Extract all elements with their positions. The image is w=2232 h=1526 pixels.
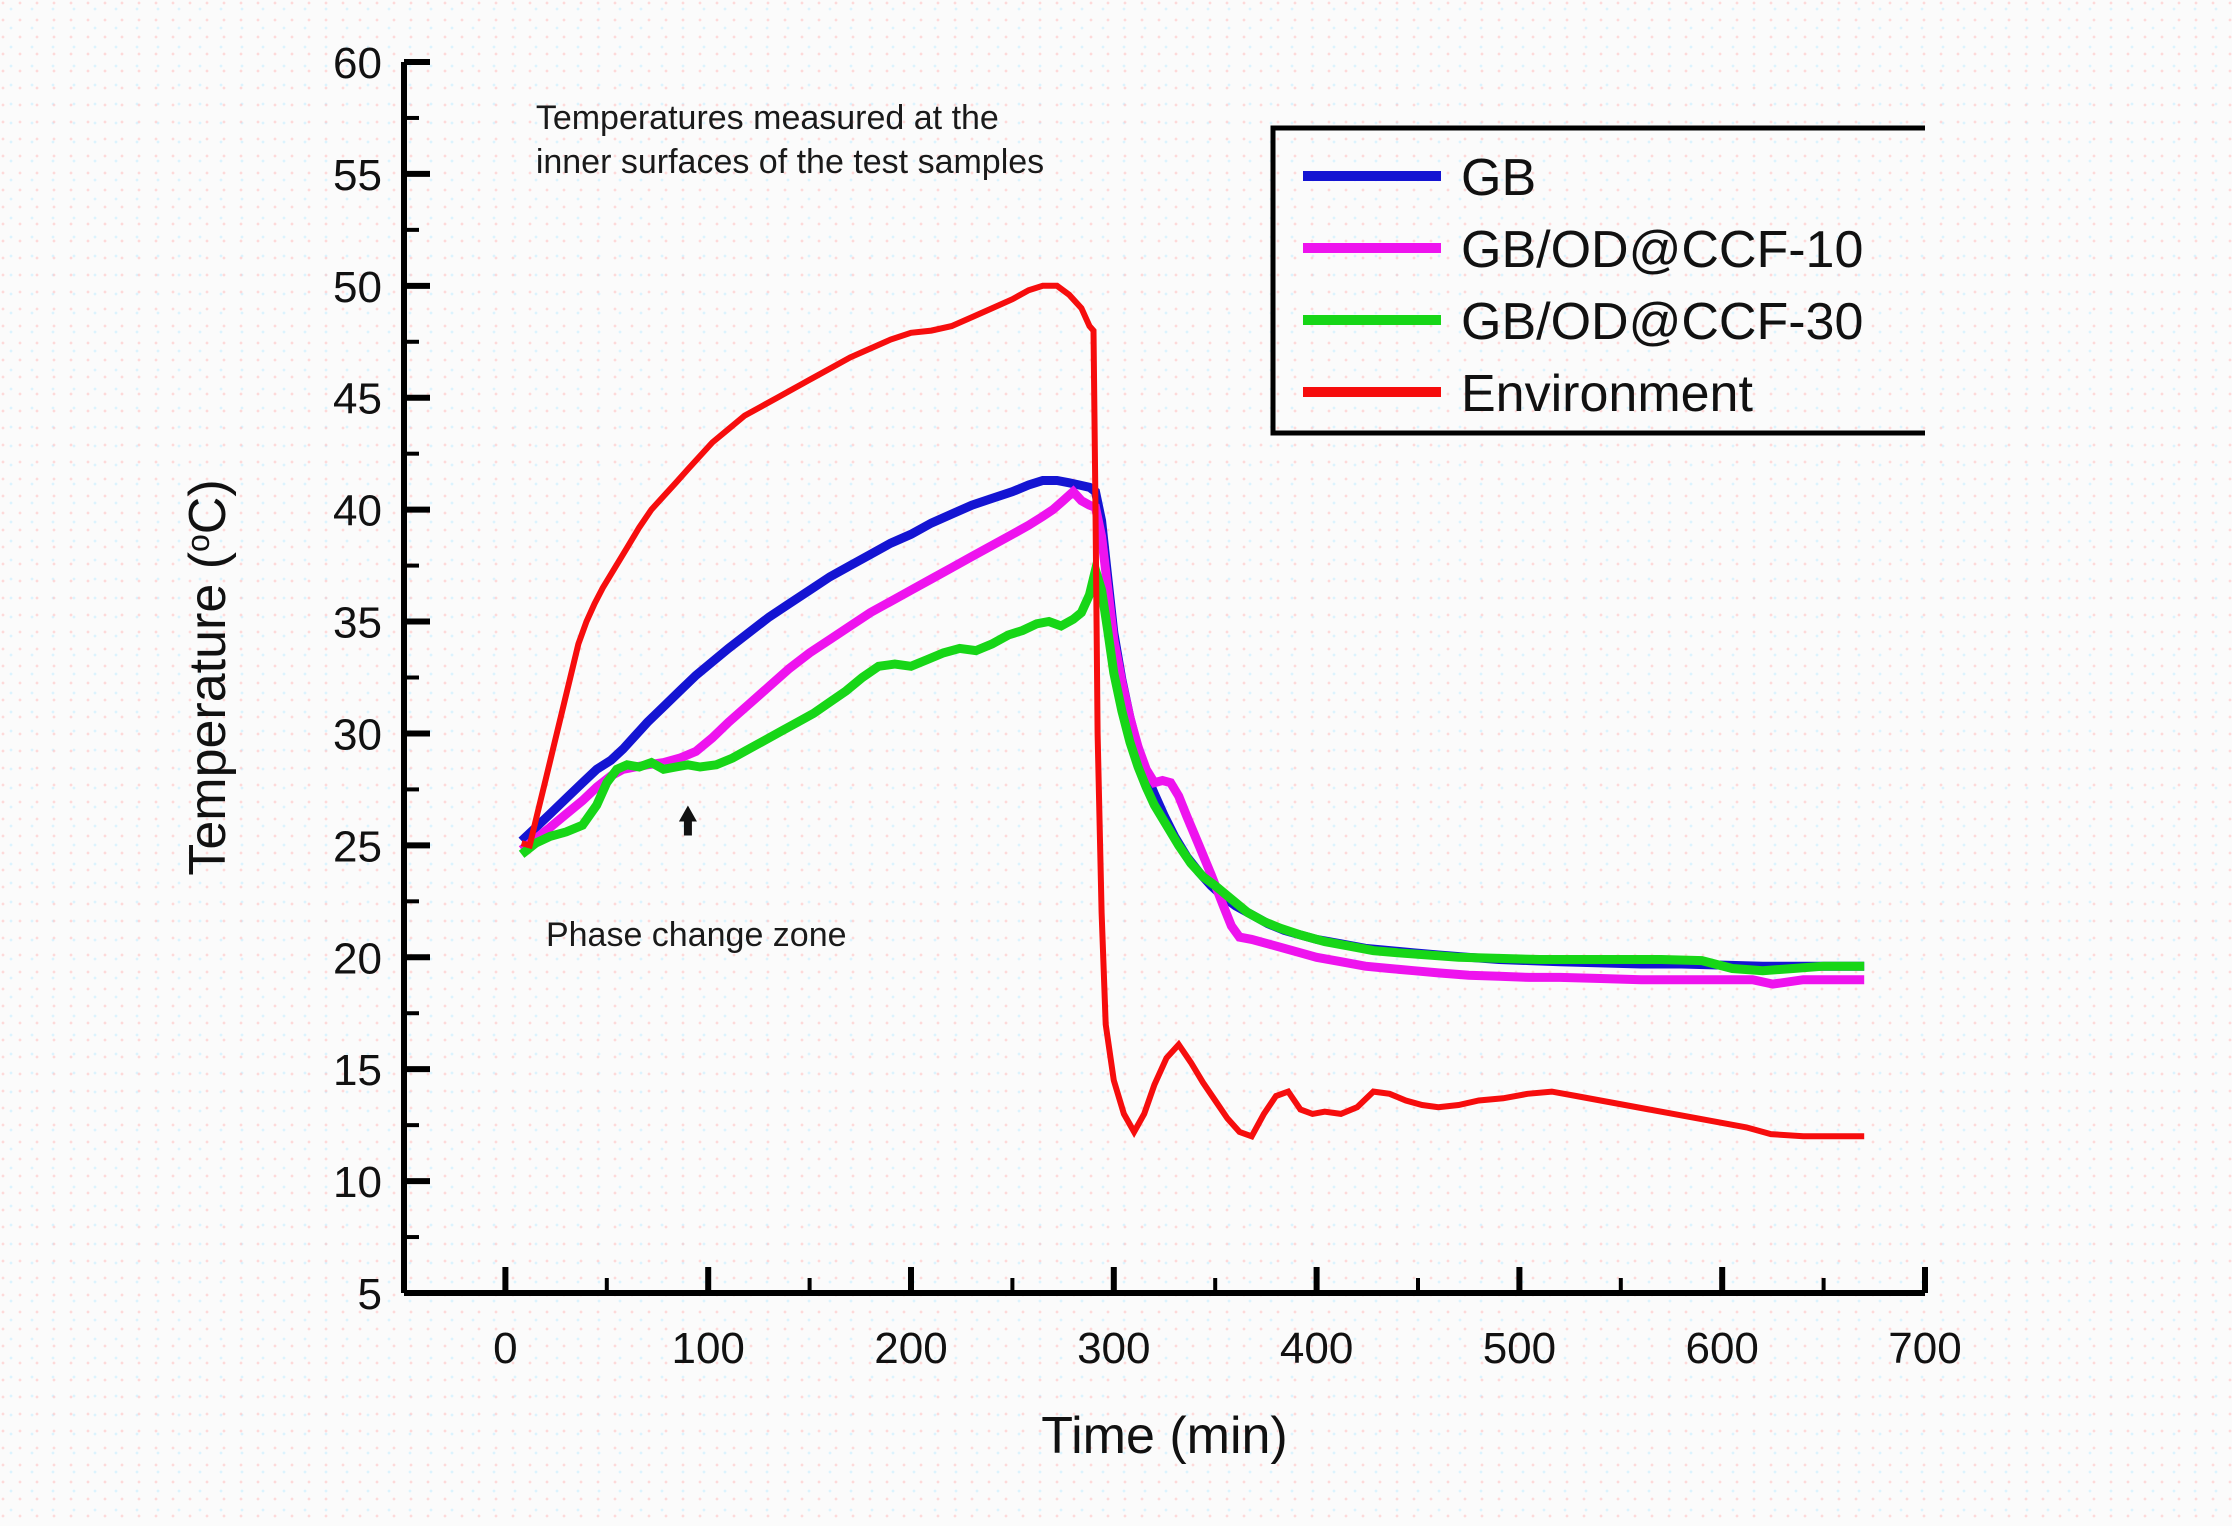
- y-axis-title: Temperature (oC): [179, 479, 237, 875]
- y-tick-label: 30: [333, 710, 382, 759]
- x-tick-label: 100: [671, 1324, 744, 1373]
- phase-change-arrow-icon: [679, 805, 697, 835]
- svg-text:Temperature (oC): Temperature (oC): [179, 479, 237, 875]
- x-tick-label: 200: [874, 1324, 947, 1373]
- y-tick-label: 15: [333, 1046, 382, 1095]
- x-tick-label: 300: [1077, 1324, 1150, 1373]
- annotations: Temperatures measured at the inner surfa…: [536, 99, 1044, 954]
- x-tick-label: 700: [1888, 1324, 1961, 1373]
- y-tick-label: 35: [333, 599, 382, 648]
- y-tick-label: 10: [333, 1158, 382, 1207]
- y-tick-label: 55: [333, 151, 382, 200]
- chart-legend: GBGB/OD@CCF-10GB/OD@CCF-30Environment: [1273, 128, 1925, 433]
- legend-label-gb-od-ccf-30: GB/OD@CCF-30: [1461, 293, 1863, 351]
- y-tick-label: 20: [333, 934, 382, 983]
- y-tick-label: 45: [333, 375, 382, 424]
- y-axis-title-degree: o: [180, 534, 216, 552]
- x-axis-ticks: [404, 1267, 1925, 1293]
- y-axis-ticks: [404, 62, 430, 1293]
- phase-change-zone-label: Phase change zone: [546, 916, 847, 954]
- y-tick-label: 5: [358, 1270, 382, 1319]
- legend-label-gb: GB: [1461, 149, 1536, 207]
- y-tick-label: 50: [333, 263, 382, 312]
- legend-label-environment: Environment: [1461, 365, 1753, 423]
- y-tick-label: 25: [333, 822, 382, 871]
- series-line-gb-od-ccf-10: [522, 492, 1865, 984]
- y-tick-label: 60: [333, 39, 382, 88]
- legend-label-gb-od-ccf-10: GB/OD@CCF-10: [1461, 221, 1863, 279]
- x-tick-label: 400: [1280, 1324, 1353, 1373]
- measurement-note-line-2: inner surfaces of the test samples: [536, 143, 1044, 181]
- y-tick-label: 40: [333, 487, 382, 536]
- x-axis-title: Time (min): [1041, 1407, 1288, 1465]
- y-axis-tick-labels: 51015202530354045505560: [333, 39, 382, 1319]
- temperature-time-line-chart: 51015202530354045505560 0100200300400500…: [0, 0, 2232, 1526]
- x-axis-tick-labels: 0100200300400500600700: [493, 1324, 1962, 1373]
- y-axis-title-prefix: Temperature (: [179, 551, 237, 875]
- series-line-gb-od-ccf-30: [522, 570, 1865, 971]
- x-tick-label: 0: [493, 1324, 517, 1373]
- y-axis-title-suffix: C): [179, 479, 237, 534]
- x-tick-label: 600: [1685, 1324, 1758, 1373]
- measurement-note-line-1: Temperatures measured at the: [536, 99, 999, 137]
- chart-figure: 51015202530354045505560 0100200300400500…: [0, 0, 2232, 1526]
- x-tick-label: 500: [1483, 1324, 1556, 1373]
